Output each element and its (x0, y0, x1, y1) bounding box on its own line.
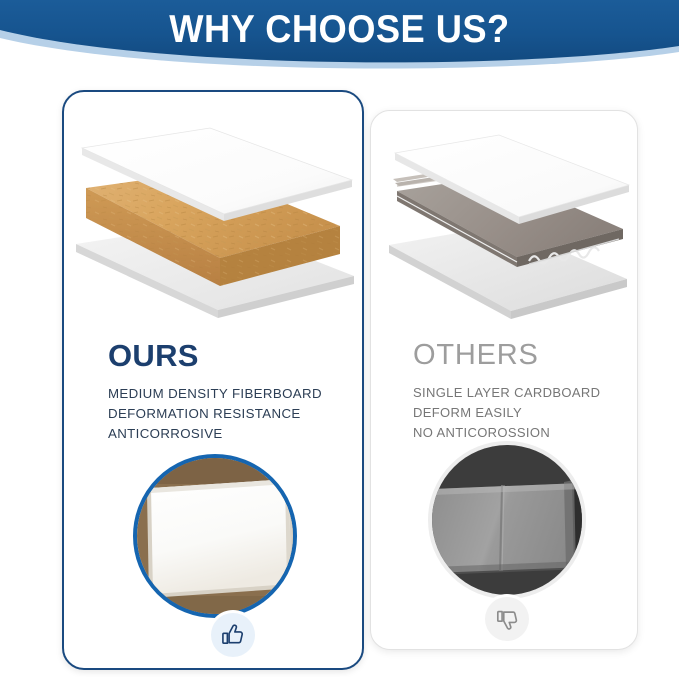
ours-heading: OURS (108, 338, 199, 374)
ours-card[interactable]: OURS MEDIUM DENSITY FIBERBOARD DEFORMATI… (62, 90, 364, 670)
ours-photo-content (137, 458, 297, 618)
thumbs-down-badge (485, 597, 529, 641)
others-photo-content (432, 445, 586, 599)
spec-line: NO ANTICOROSSION (413, 423, 600, 443)
others-heading: OTHERS (413, 339, 539, 372)
spec-line: DEFORMATION RESISTANCE (108, 404, 322, 424)
thumbs-down-icon (495, 607, 520, 632)
others-card[interactable]: OTHERS SINGLE LAYER CARDBOARD DEFORM EAS… (370, 110, 638, 650)
spec-line: DEFORM EASILY (413, 403, 600, 423)
page-title: WHY CHOOSE US? (24, 0, 655, 62)
thumbs-up-badge (211, 613, 255, 657)
ours-product-photo[interactable] (133, 454, 297, 618)
ours-spec-list: MEDIUM DENSITY FIBERBOARD DEFORMATION RE… (108, 384, 322, 444)
others-spec-list: SINGLE LAYER CARDBOARD DEFORM EASILY NO … (413, 383, 600, 443)
spec-line: ANTICORROSIVE (108, 424, 322, 444)
spec-line: MEDIUM DENSITY FIBERBOARD (108, 384, 322, 404)
spec-line: SINGLE LAYER CARDBOARD (413, 383, 600, 403)
thumbs-up-icon (220, 622, 246, 648)
others-product-photo[interactable] (428, 441, 586, 599)
ours-board-illustration (68, 126, 358, 321)
header-banner: WHY CHOOSE US? (0, 0, 679, 86)
others-board-illustration (383, 133, 635, 323)
